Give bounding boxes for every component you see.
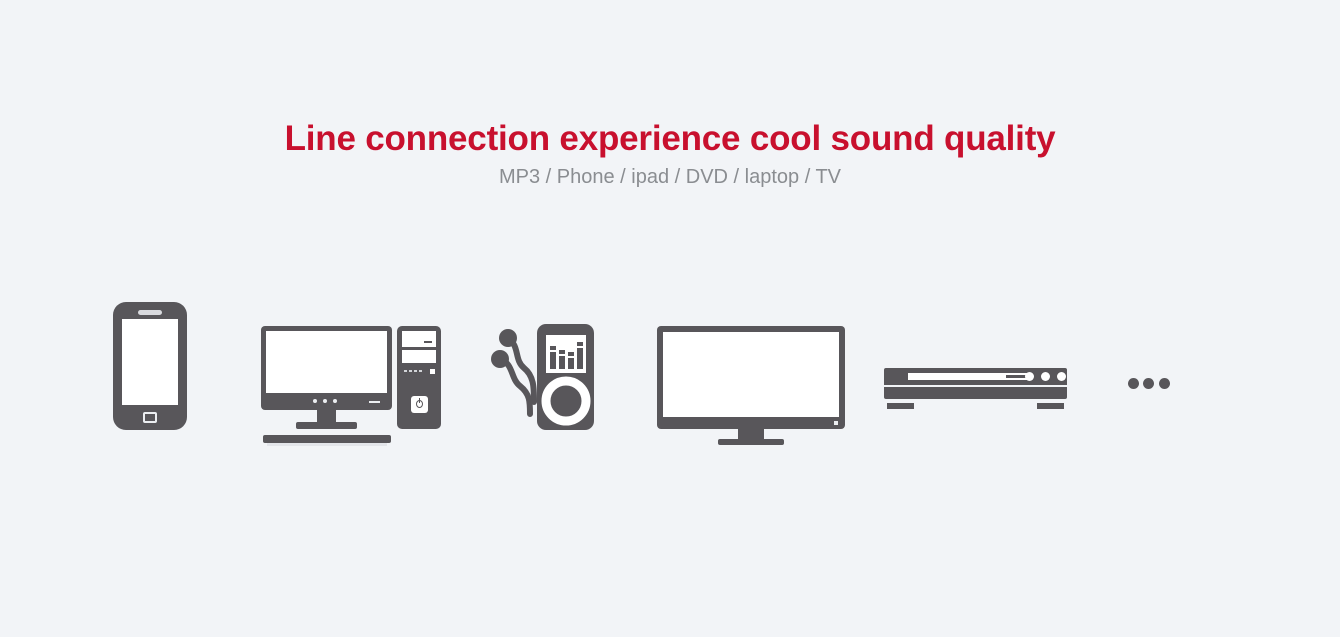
banner-headline: Line connection experience cool sound qu… <box>0 118 1340 160</box>
smartphone-icon <box>113 302 187 450</box>
tower-drive-bay-top <box>402 331 436 347</box>
dvd-player-icon <box>884 302 1069 450</box>
smartphone-body <box>113 302 187 430</box>
desktop-computer-icon <box>261 302 441 450</box>
eq-bar-4 <box>577 348 583 369</box>
keyboard-shadow <box>267 443 387 446</box>
dvd-control-buttons <box>1025 372 1069 381</box>
tower-indicator-leds <box>404 369 436 373</box>
eq-bar-3 <box>568 358 574 369</box>
tower-power-button <box>411 396 428 413</box>
keyboard-icon <box>263 435 391 443</box>
tower-bay-eject-dash <box>424 341 432 343</box>
monitor-screen <box>266 331 387 393</box>
eq-cap-1 <box>550 346 556 350</box>
product-compatibility-banner: Line connection experience cool sound qu… <box>0 0 1340 637</box>
smartphone-home-button <box>143 412 157 423</box>
tv-power-led <box>834 421 838 425</box>
tv-stand-base <box>718 439 784 445</box>
monitor-power-dash <box>369 401 380 403</box>
monitor-body <box>261 326 392 410</box>
banner-subheadline: MP3 / Phone / ipad / DVD / laptop / TV <box>0 164 1340 190</box>
tv-screen <box>663 332 839 417</box>
dvd-foot-right <box>1037 403 1064 409</box>
device-illustration-row <box>0 280 1340 450</box>
computer-tower <box>397 326 441 429</box>
earbud-upper <box>499 329 517 347</box>
monitor-stand-base <box>296 422 357 429</box>
mp3-player-svg <box>490 302 600 450</box>
eq-bar-1 <box>550 352 556 369</box>
tower-drive-bay-bottom <box>402 350 436 363</box>
mp3-player-icon <box>490 302 600 450</box>
eq-bar-2 <box>559 356 565 369</box>
dvd-foot-left <box>887 403 914 409</box>
more-devices-ellipsis-icon <box>1128 302 1170 450</box>
smartphone-earpiece <box>138 310 162 315</box>
tv-body <box>657 326 845 429</box>
eq-cap-2 <box>559 350 565 354</box>
ellipsis-dots <box>1128 378 1170 389</box>
eq-cap-3 <box>568 352 574 356</box>
eq-cap-4 <box>577 342 583 346</box>
earbud-lower <box>491 350 509 368</box>
dvd-lower-panel <box>884 387 1067 399</box>
monitor-indicator-dots <box>313 399 343 403</box>
smartphone-screen <box>122 319 178 405</box>
television-icon <box>657 302 847 450</box>
